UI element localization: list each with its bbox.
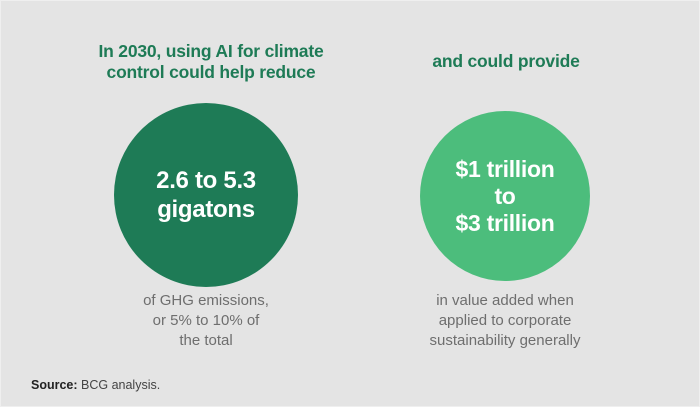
right-caption: in value added when applied to corporate… bbox=[389, 291, 621, 351]
left-stat-circle: 2.6 to 5.3 gigatons bbox=[114, 103, 298, 287]
right-stat-value: $1 trillion to $3 trillion bbox=[446, 156, 565, 237]
source-text: BCG analysis. bbox=[78, 378, 161, 392]
infographic-canvas: In 2030, using AI for climate control co… bbox=[0, 0, 700, 407]
right-heading: and could provide bbox=[391, 51, 621, 72]
source-note: Source: BCG analysis. bbox=[31, 378, 160, 393]
left-caption: of GHG emissions, or 5% to 10% of the to… bbox=[106, 291, 306, 351]
left-heading: In 2030, using AI for climate control co… bbox=[61, 41, 361, 83]
right-stat-circle: $1 trillion to $3 trillion bbox=[420, 111, 590, 281]
left-stat-value: 2.6 to 5.3 gigatons bbox=[146, 166, 266, 224]
source-label: Source: bbox=[31, 378, 78, 392]
